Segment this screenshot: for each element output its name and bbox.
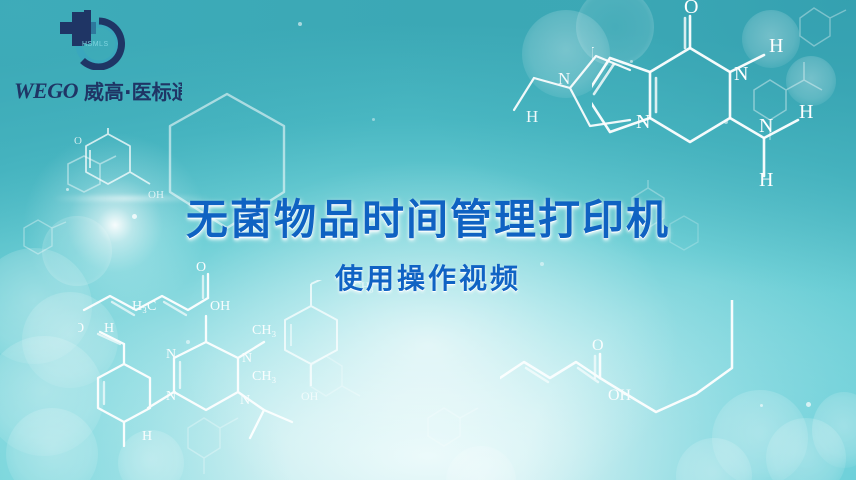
video-title-slide: O N H N N H H N N N H xyxy=(0,0,856,480)
brand-logo: HSMLS WEGO 威高·医标通 xyxy=(14,8,194,110)
sparkle-dot xyxy=(724,120,728,124)
sparkle-dot xyxy=(66,188,69,191)
wego-hsmls-logo-mark: HSMLS xyxy=(52,8,130,70)
page-subtitle: 使用操作视频 xyxy=(0,257,856,297)
sparkle-dot xyxy=(298,22,302,26)
logo-inner-text: HSMLS xyxy=(82,41,109,48)
sparkle-dot xyxy=(186,340,190,344)
wordmark-latin: WEGO xyxy=(14,78,79,103)
sparkle-dot xyxy=(806,402,811,407)
brand-wordmark: WEGO 威高·医标通 xyxy=(14,77,182,105)
sparkle-dot xyxy=(372,118,375,121)
page-title: 无菌物品时间管理打印机 xyxy=(0,196,856,243)
title-group: 无菌物品时间管理打印机 使用操作视频 xyxy=(0,196,856,297)
wordmark-cn: 威高·医标通 xyxy=(84,80,182,104)
sparkle-dot xyxy=(760,404,763,407)
sparkle-dot xyxy=(630,60,633,63)
